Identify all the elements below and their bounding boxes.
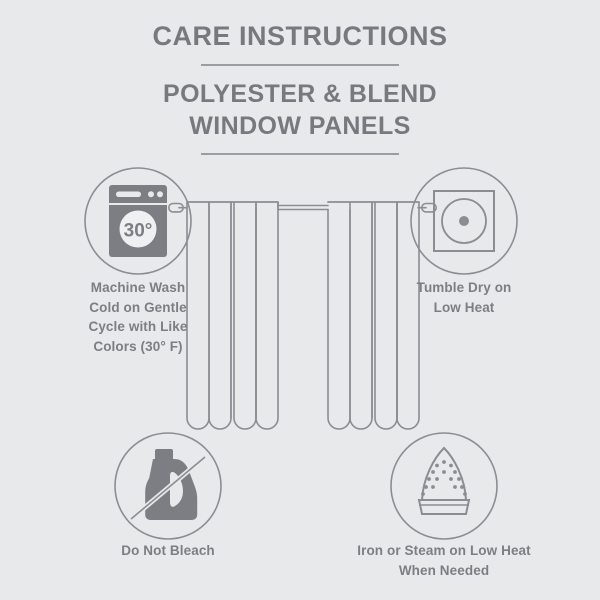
- do-not-bleach-icon: [113, 431, 223, 541]
- caption-line: Machine Wash: [38, 278, 238, 298]
- page-subtitle: POLYESTER & BLEND WINDOW PANELS: [0, 66, 600, 142]
- washing-machine-icon: 30°: [83, 166, 193, 276]
- caption-line: Cycle with Like: [38, 317, 238, 337]
- wash-temperature-label: 30°: [124, 221, 153, 242]
- caption-line: When Needed: [324, 561, 564, 581]
- tumble-dry-icon: [409, 166, 519, 276]
- caption-machine-wash: Machine Wash Cold on Gentle Cycle with L…: [38, 278, 238, 357]
- caption-line: Do Not Bleach: [58, 541, 278, 561]
- caption-iron: Iron or Steam on Low Heat When Needed: [324, 541, 564, 580]
- caption-line: Colors (30° F): [38, 337, 238, 357]
- subtitle-line-2: WINDOW PANELS: [189, 112, 410, 140]
- caption-line: Tumble Dry on: [384, 278, 544, 298]
- caption-tumble-dry: Tumble Dry on Low Heat: [384, 278, 544, 317]
- badge-machine-wash: 30°: [83, 166, 193, 276]
- caption-line: Cold on Gentle: [38, 298, 238, 318]
- iron-icon: [389, 431, 499, 541]
- header: CARE INSTRUCTIONS POLYESTER & BLEND WIND…: [0, 0, 600, 155]
- badge-tumble-dry: [409, 166, 519, 276]
- page-title: CARE INSTRUCTIONS: [0, 0, 600, 52]
- subtitle-divider: [201, 153, 399, 155]
- caption-line: Iron or Steam on Low Heat: [324, 541, 564, 561]
- subtitle-line-1: POLYESTER & BLEND: [163, 80, 437, 108]
- care-instructions-card: CARE INSTRUCTIONS POLYESTER & BLEND WIND…: [0, 0, 600, 600]
- curtain-rod: [278, 206, 328, 210]
- badge-iron: [389, 431, 499, 541]
- caption-line: Low Heat: [384, 298, 544, 318]
- badge-do-not-bleach: [113, 431, 223, 541]
- caption-do-not-bleach: Do Not Bleach: [58, 541, 278, 561]
